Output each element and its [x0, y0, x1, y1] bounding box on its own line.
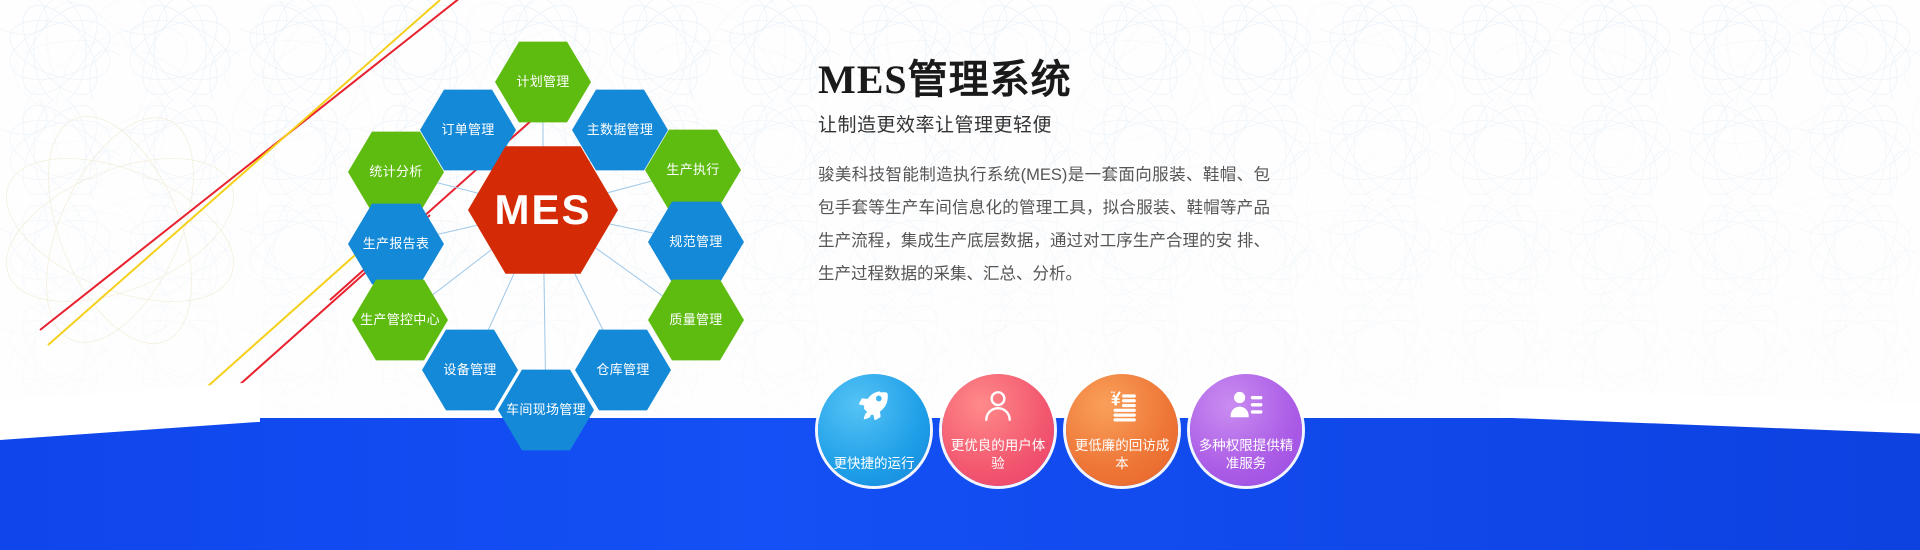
hex-center-label: MES: [494, 186, 591, 234]
hex-label: 质量管理: [669, 312, 722, 328]
mes-hex-diagram: 计划管理订单管理主数据管理统计分析生产执行生产报告表规范管理生产管控中心质量管理…: [330, 10, 800, 430]
hex-label: 生产管控中心: [360, 312, 440, 328]
hex-label: 生产报告表: [363, 236, 430, 252]
hex-label: 仓库管理: [596, 362, 649, 378]
feature-label: 更快捷的运行: [826, 455, 923, 473]
feature-label: 更优良的用户体验: [942, 437, 1054, 473]
feature-faster-operation[interactable]: 更快捷的运行: [818, 374, 930, 486]
feature-multiple-permissions[interactable]: 多种权限提供精准服务: [1190, 374, 1302, 486]
hex-label: 主数据管理: [587, 122, 654, 138]
page-title: MES管理系统: [818, 58, 1458, 102]
page-subtitle: 让制造更效率让管理更轻便: [818, 110, 1458, 137]
feature-lower-revisit-cost[interactable]: 更低廉的回访成本: [1066, 374, 1178, 486]
hex-label: 生产执行: [666, 162, 719, 178]
description-paragraph: 骏美科技智能制造执行系统(MES)是一套面向服装、鞋帽、包包手套等生产车间信息化…: [818, 159, 1270, 291]
hex-label: 订单管理: [441, 122, 494, 138]
rocket-icon: [857, 388, 891, 422]
feature-better-user-experience[interactable]: 更优良的用户体验: [942, 374, 1054, 486]
hex-label: 计划管理: [516, 74, 569, 90]
hex-label: 设备管理: [443, 362, 496, 378]
feature-label: 更低廉的回访成本: [1066, 437, 1178, 473]
user-icon: [981, 388, 1015, 422]
feature-label: 多种权限提供精准服务: [1190, 437, 1302, 473]
hex-label: 统计分析: [369, 164, 422, 180]
feature-circle-list: 更快捷的运行更优良的用户体验更低廉的回访成本多种权限提供精准服务: [818, 374, 1458, 494]
hex-label: 车间现场管理: [506, 402, 586, 418]
hex-label: 规范管理: [669, 234, 722, 250]
mes-banner: 计划管理订单管理主数据管理统计分析生产执行生产报告表规范管理生产管控中心质量管理…: [0, 0, 1920, 550]
permissions-icon: [1229, 388, 1263, 422]
coins-icon: [1105, 388, 1139, 422]
info-block: MES管理系统 让制造更效率让管理更轻便 骏美科技智能制造执行系统(MES)是一…: [818, 58, 1458, 291]
